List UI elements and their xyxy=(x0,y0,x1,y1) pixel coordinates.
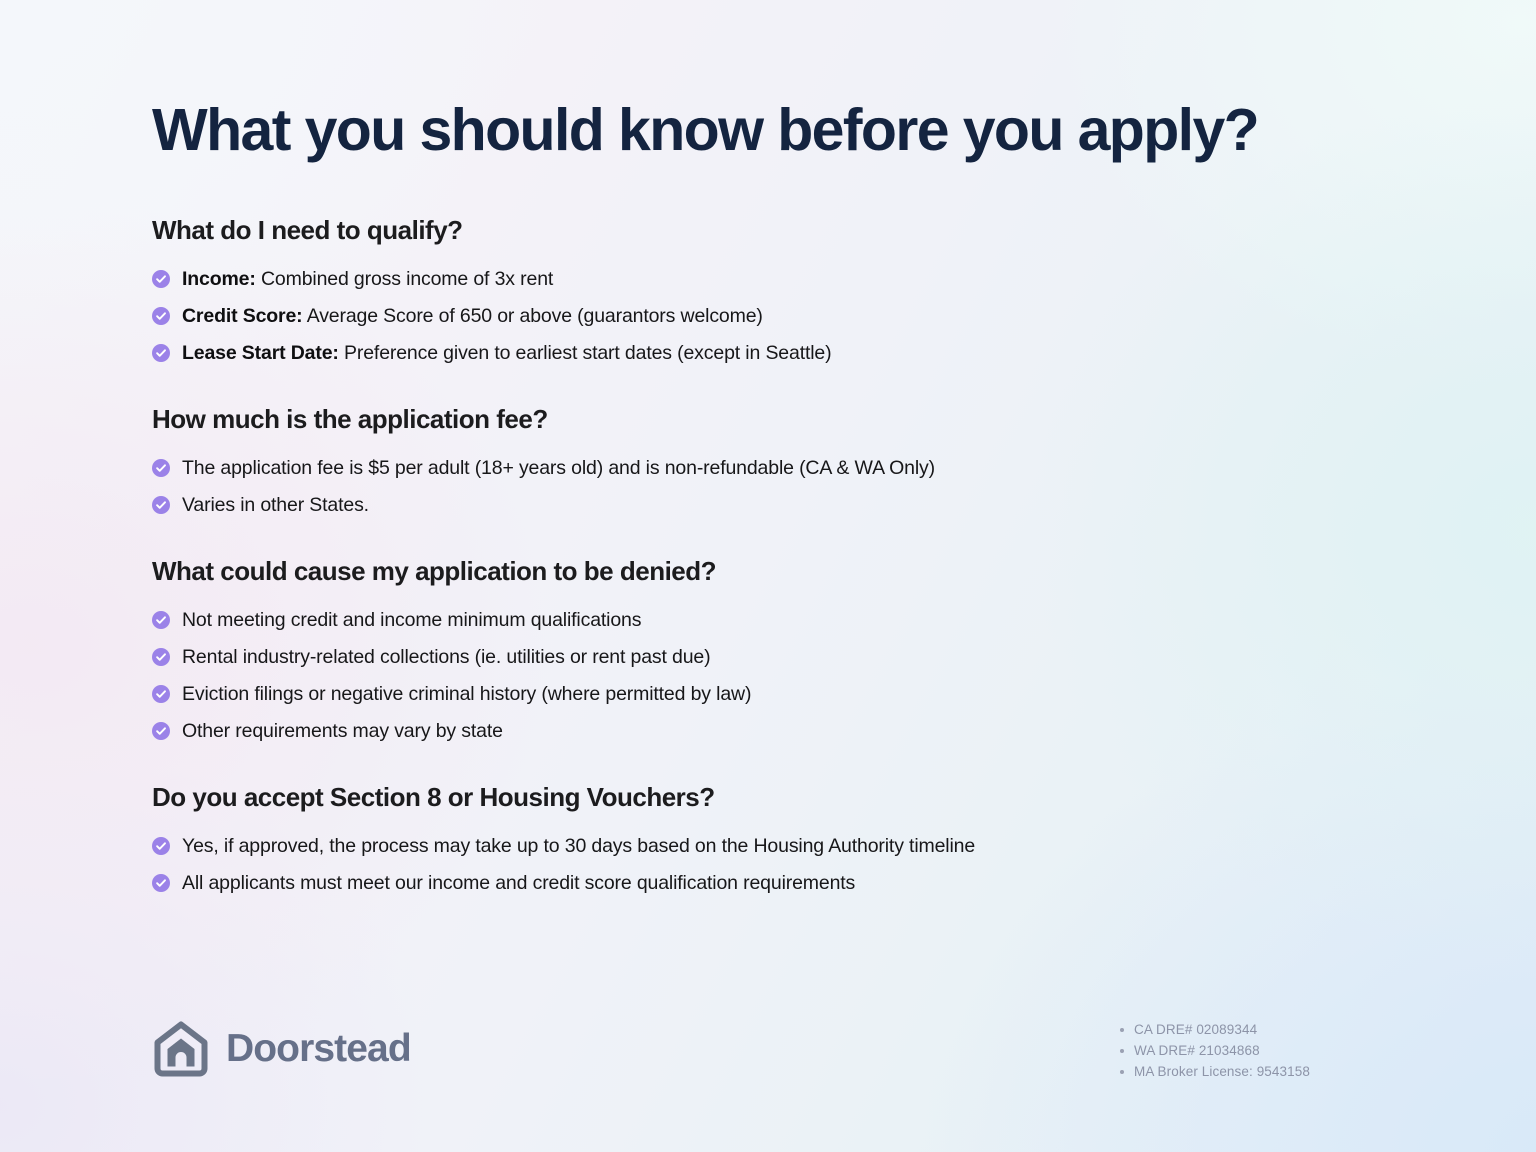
faq-section-application-fee: How much is the application fee? The app… xyxy=(152,404,1392,518)
faq-section-section-8: Do you accept Section 8 or Housing Vouch… xyxy=(152,782,1392,896)
list-item-text: Rental industry-related collections (ie.… xyxy=(182,645,710,670)
list-item-body: Preference given to earliest start dates… xyxy=(339,342,832,364)
check-circle-icon xyxy=(152,648,170,666)
list-item: Other requirements may vary by state xyxy=(152,719,1392,744)
list-item-text: Eviction filings or negative criminal hi… xyxy=(182,682,751,707)
legal-item: WA DRE# 21034868 xyxy=(1114,1040,1384,1061)
list-item: Varies in other States. xyxy=(152,493,1392,518)
section-heading: What do I need to qualify? xyxy=(152,215,1392,246)
list-item: Eviction filings or negative criminal hi… xyxy=(152,682,1392,707)
check-circle-icon xyxy=(152,837,170,855)
check-circle-icon xyxy=(152,496,170,514)
list-item-text: Not meeting credit and income minimum qu… xyxy=(182,608,641,633)
list-item-text: Income: Combined gross income of 3x rent xyxy=(182,267,553,292)
list-item: Income: Combined gross income of 3x rent xyxy=(152,267,1392,292)
check-circle-icon xyxy=(152,611,170,629)
list-item: Lease Start Date: Preference given to ea… xyxy=(152,341,1392,366)
faq-section-qualify: What do I need to qualify? Income: Combi… xyxy=(152,215,1392,366)
list-item-text: The application fee is $5 per adult (18+… xyxy=(182,456,935,481)
list-item-text: Lease Start Date: Preference given to ea… xyxy=(182,341,831,366)
check-circle-icon xyxy=(152,307,170,325)
list-item-body: Average Score of 650 or above (guarantor… xyxy=(303,305,763,327)
faq-page: What you should know before you apply? W… xyxy=(0,0,1536,1152)
list-item-text: Credit Score: Average Score of 650 or ab… xyxy=(182,304,763,329)
legal-license-list: CA DRE# 02089344 WA DRE# 21034868 MA Bro… xyxy=(1114,1019,1384,1082)
list-item: The application fee is $5 per adult (18+… xyxy=(152,456,1392,481)
list-item: Yes, if approved, the process may take u… xyxy=(152,834,1392,859)
bullet-list: Not meeting credit and income minimum qu… xyxy=(152,608,1392,744)
legal-item: CA DRE# 02089344 xyxy=(1114,1019,1384,1040)
check-circle-icon xyxy=(152,722,170,740)
legal-item: MA Broker License: 9543158 xyxy=(1114,1061,1384,1082)
list-item: Credit Score: Average Score of 650 or ab… xyxy=(152,304,1392,329)
list-item-lead: Income: xyxy=(182,268,256,290)
page-title: What you should know before you apply? xyxy=(152,101,1258,160)
check-circle-icon xyxy=(152,270,170,288)
list-item: All applicants must meet our income and … xyxy=(152,871,1392,896)
check-circle-icon xyxy=(152,344,170,362)
list-item: Not meeting credit and income minimum qu… xyxy=(152,608,1392,633)
list-item-lead: Lease Start Date: xyxy=(182,342,339,364)
bullet-list: Income: Combined gross income of 3x rent… xyxy=(152,267,1392,366)
list-item-text: Yes, if approved, the process may take u… xyxy=(182,834,975,859)
faq-sections: What do I need to qualify? Income: Combi… xyxy=(152,215,1392,896)
list-item: Rental industry-related collections (ie.… xyxy=(152,645,1392,670)
list-item-text: Other requirements may vary by state xyxy=(182,719,503,744)
bullet-list: Yes, if approved, the process may take u… xyxy=(152,834,1392,896)
list-item-lead: Credit Score: xyxy=(182,305,303,327)
section-heading: What could cause my application to be de… xyxy=(152,556,1392,587)
brand-logo: Doorstead xyxy=(152,1020,411,1078)
list-item-body: Combined gross income of 3x rent xyxy=(256,268,553,290)
check-circle-icon xyxy=(152,874,170,892)
bullet-list: The application fee is $5 per adult (18+… xyxy=(152,456,1392,518)
page-footer: Doorstead CA DRE# 02089344 WA DRE# 21034… xyxy=(0,972,1536,1152)
check-circle-icon xyxy=(152,459,170,477)
list-item-text: Varies in other States. xyxy=(182,493,369,518)
list-item-text: All applicants must meet our income and … xyxy=(182,871,855,896)
faq-section-denial-reasons: What could cause my application to be de… xyxy=(152,556,1392,744)
house-icon xyxy=(152,1020,210,1078)
check-circle-icon xyxy=(152,685,170,703)
section-heading: Do you accept Section 8 or Housing Vouch… xyxy=(152,782,1392,813)
brand-name: Doorstead xyxy=(226,1027,411,1071)
section-heading: How much is the application fee? xyxy=(152,404,1392,435)
